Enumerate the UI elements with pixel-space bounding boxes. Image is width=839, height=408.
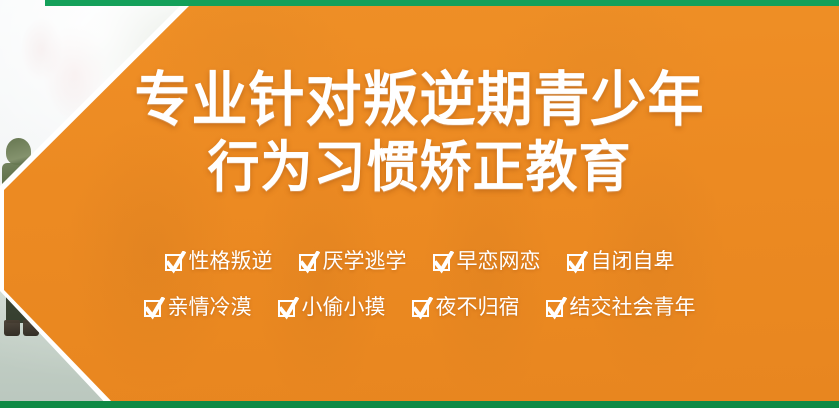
checklist-item-label: 自闭自卑 xyxy=(591,250,675,274)
headline-line-1: 专业针对叛逆期青少年 xyxy=(135,66,705,134)
checklist-item[interactable]: 早恋网恋 xyxy=(433,250,541,274)
headline-line-2: 行为习惯矫正教育 xyxy=(135,136,705,200)
checklist-item-label: 夜不归宿 xyxy=(436,296,520,320)
checkbox-checked-icon xyxy=(278,300,295,317)
checklist-item-label: 早恋网恋 xyxy=(457,250,541,274)
checkbox-checked-icon xyxy=(567,254,584,271)
checklist-item[interactable]: 自闭自卑 xyxy=(567,250,675,274)
checklist-item[interactable]: 性格叛逆 xyxy=(165,250,273,274)
checklist-item[interactable]: 厌学逃学 xyxy=(299,250,407,274)
checklist-item-label: 厌学逃学 xyxy=(323,250,407,274)
checklist: 性格叛逆 厌学逃学 早恋网恋 xyxy=(0,250,839,320)
checklist-item[interactable]: 结交社会青年 xyxy=(546,296,696,320)
checklist-item[interactable]: 小偷小摸 xyxy=(278,296,386,320)
promo-banner: 专业针对叛逆期青少年 行为习惯矫正教育 性格叛逆 xyxy=(0,0,839,408)
checkbox-checked-icon xyxy=(299,254,316,271)
checklist-row: 亲情冷漠 小偷小摸 夜不归宿 xyxy=(144,296,696,320)
checklist-item[interactable]: 夜不归宿 xyxy=(412,296,520,320)
checklist-item-label: 性格叛逆 xyxy=(189,250,273,274)
checklist-item-label: 结交社会青年 xyxy=(570,296,696,320)
bottom-green-rule xyxy=(0,401,839,408)
checklist-item-label: 亲情冷漠 xyxy=(168,296,252,320)
checkbox-checked-icon xyxy=(546,300,563,317)
checklist-item-label: 小偷小摸 xyxy=(302,296,386,320)
banner-content: 专业针对叛逆期青少年 行为习惯矫正教育 性格叛逆 xyxy=(0,0,839,408)
checkbox-checked-icon xyxy=(412,300,429,317)
checkbox-checked-icon xyxy=(165,254,182,271)
headline: 专业针对叛逆期青少年 行为习惯矫正教育 xyxy=(135,0,705,198)
checklist-row: 性格叛逆 厌学逃学 早恋网恋 xyxy=(165,250,675,274)
checkbox-checked-icon xyxy=(144,300,161,317)
checkbox-checked-icon xyxy=(433,254,450,271)
top-green-rule xyxy=(45,0,839,6)
checklist-item[interactable]: 亲情冷漠 xyxy=(144,296,252,320)
